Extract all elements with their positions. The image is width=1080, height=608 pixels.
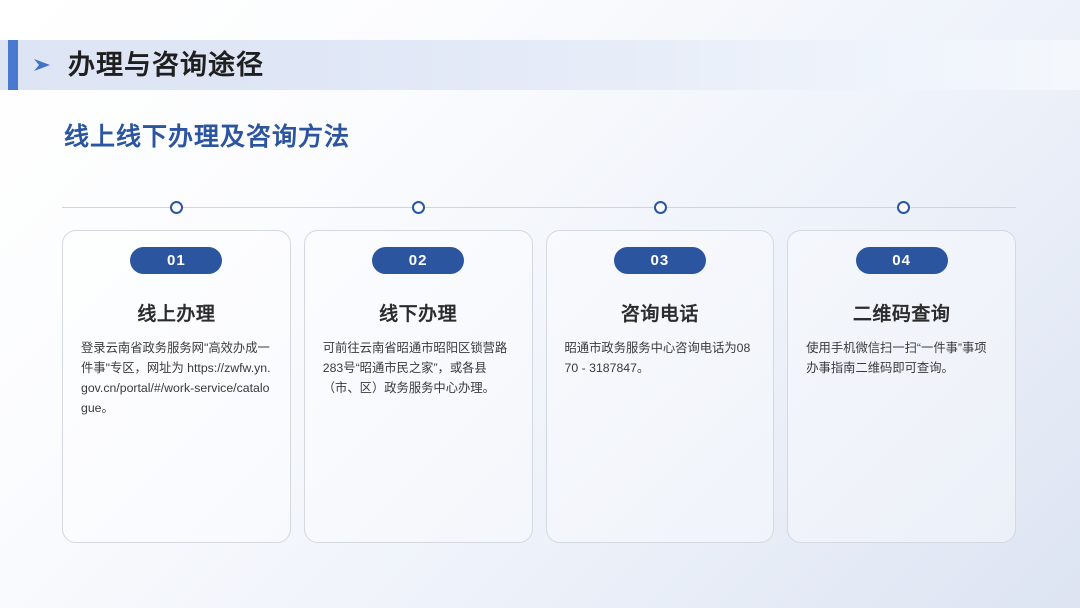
card-body: 使用手机微信扫一扫“一件事”事项办事指南二维码即可查询。 — [806, 339, 997, 379]
timeline-dot-4 — [897, 201, 910, 214]
page-title: 办理与咨询途径 — [68, 52, 264, 79]
card-list: 01 线上办理 登录云南省政务服务网"高效办成一件事"专区，网址为 https:… — [62, 230, 1016, 543]
card-item[interactable]: 02 线下办理 可前往云南省昭通市昭阳区锁营路283号“昭通市民之家”，或各县（… — [304, 230, 533, 543]
section-subtitle: 线上线下办理及咨询方法 — [64, 117, 350, 153]
card-title: 咨询电话 — [547, 299, 774, 326]
card-body: 登录云南省政务服务网"高效办成一件事"专区，网址为 https://zwfw.y… — [81, 339, 272, 419]
card-badge: 01 — [130, 247, 222, 274]
chevron-right-icon — [32, 55, 54, 75]
card-item[interactable]: 01 线上办理 登录云南省政务服务网"高效办成一件事"专区，网址为 https:… — [62, 230, 291, 543]
header-accent-bar — [8, 40, 18, 90]
card-item[interactable]: 03 咨询电话 昭通市政务服务中心咨询电话为0870 - 3187847。 — [546, 230, 775, 543]
timeline-dot-3 — [654, 201, 667, 214]
card-badge: 03 — [614, 247, 706, 274]
card-title: 线下办理 — [305, 299, 532, 326]
card-item[interactable]: 04 二维码查询 使用手机微信扫一扫“一件事”事项办事指南二维码即可查询。 — [787, 230, 1016, 543]
card-badge: 04 — [856, 247, 948, 274]
card-badge: 02 — [372, 247, 464, 274]
timeline-dot-1 — [170, 201, 183, 214]
timeline-line — [62, 207, 1016, 208]
header: 办理与咨询途径 — [32, 40, 264, 90]
card-title: 线上办理 — [63, 299, 290, 326]
card-title: 二维码查询 — [788, 299, 1015, 326]
card-body: 可前往云南省昭通市昭阳区锁营路283号“昭通市民之家”，或各县（市、区）政务服务… — [323, 339, 514, 399]
timeline-dot-2 — [412, 201, 425, 214]
card-body: 昭通市政务服务中心咨询电话为0870 - 3187847。 — [565, 339, 756, 379]
